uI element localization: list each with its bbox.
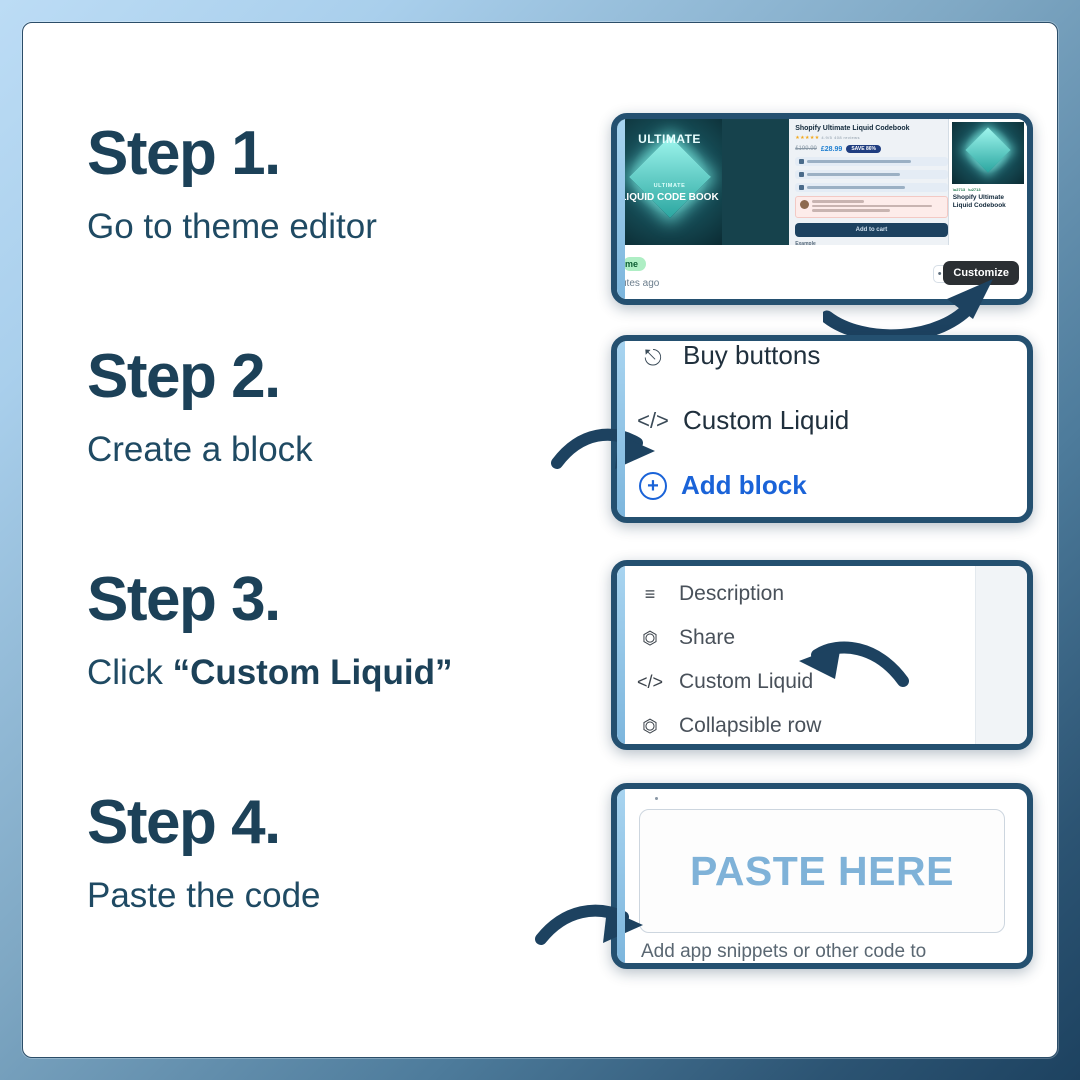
review-count: 408 reviews bbox=[834, 135, 860, 140]
price-current: £28.99 bbox=[821, 146, 842, 153]
book-cover-thumbnail: ULTIMATE ULTIMATE LIQUID CODE BOOK bbox=[617, 119, 722, 245]
block-row-label: Buy buttons bbox=[683, 340, 820, 371]
arrow-to-custom-liquid bbox=[791, 635, 909, 697]
bullet-line bbox=[807, 186, 905, 189]
poster-canvas: Step 1. Go to theme editor Step 2. Creat… bbox=[0, 0, 1080, 1080]
step-2-subtitle-text: Create a block bbox=[87, 430, 313, 469]
bullet-line bbox=[807, 160, 911, 163]
step-4-subtitle: Paste the code bbox=[87, 876, 321, 916]
avatar bbox=[800, 200, 809, 209]
white-panel: Step 1. Go to theme editor Step 2. Creat… bbox=[22, 22, 1058, 1058]
review-callout bbox=[795, 196, 948, 218]
star-glyphs: ★★★★★ bbox=[795, 135, 819, 141]
check-icon bbox=[799, 159, 804, 164]
collapse-frame-icon: ⏣ bbox=[637, 716, 663, 737]
cursor-click-icon: ⎋ bbox=[639, 345, 667, 371]
feature-bullet bbox=[795, 183, 948, 192]
step-1-title: Step 1. bbox=[87, 123, 377, 185]
step-2-title: Step 2. bbox=[87, 346, 313, 408]
code-icon: </> bbox=[637, 672, 663, 693]
mobile-preview: \u2713\u2713 Shopify Ultimate Liquid Cod… bbox=[948, 119, 1027, 245]
chevron-down-icon[interactable]: ⌄ bbox=[621, 294, 629, 305]
step-3-subtitle-text: Click bbox=[87, 653, 173, 692]
picker-row-label: Collapsible row bbox=[679, 714, 821, 738]
step-1-text: Step 1. Go to theme editor bbox=[87, 123, 377, 247]
arrow-to-customize bbox=[823, 273, 1013, 341]
rating-note: 4.9/5 bbox=[821, 135, 832, 140]
add-block-button[interactable]: + Add block bbox=[617, 470, 1027, 501]
cover-line-3: LIQUID CODE BOOK bbox=[617, 192, 722, 203]
screenshot-card-paste-area[interactable]: PASTE HERE Add app snippets or other cod… bbox=[611, 783, 1033, 969]
scroll-track[interactable] bbox=[975, 566, 1027, 744]
review-line bbox=[812, 200, 864, 203]
rating-row: ★★★★★ 4.9/5 408 reviews bbox=[795, 135, 948, 141]
current-theme-badge: me bbox=[623, 257, 646, 271]
price-save-badge: SAVE 86% bbox=[846, 145, 881, 153]
product-title: Shopify Ultimate Liquid Codebook bbox=[795, 125, 948, 132]
share-frame-icon: ⏣ bbox=[637, 628, 663, 649]
step-3-text: Step 3. Click “Custom Liquid” bbox=[87, 569, 453, 693]
picker-row-label: Share bbox=[679, 626, 735, 650]
block-row-label: Custom Liquid bbox=[683, 405, 849, 436]
mobile-tags: \u2713\u2713 bbox=[953, 187, 1023, 192]
arrow-to-paste-area bbox=[535, 891, 655, 953]
mobile-product-info: \u2713\u2713 Shopify Ultimate Liquid Cod… bbox=[949, 187, 1027, 210]
step-4-title: Step 4. bbox=[87, 792, 321, 854]
price-original: £199.99 bbox=[795, 146, 817, 152]
feature-bullet bbox=[795, 157, 948, 166]
product-detail-block: Shopify Ultimate Liquid Codebook ★★★★★ 4… bbox=[795, 125, 948, 247]
add-block-label: Add block bbox=[681, 470, 807, 501]
step-1-subtitle: Go to theme editor bbox=[87, 207, 377, 247]
step-4-text: Step 4. Paste the code bbox=[87, 792, 321, 916]
step-3-subtitle-emphasis: “Custom Liquid” bbox=[173, 653, 453, 692]
bullet-line bbox=[807, 173, 899, 176]
picker-row-description[interactable]: ≡ Description bbox=[617, 572, 975, 616]
cover-line-2: ULTIMATE bbox=[617, 183, 722, 189]
add-to-cart-button[interactable]: Add to cart bbox=[795, 223, 948, 237]
price-row: £199.99 £28.99 SAVE 86% bbox=[795, 145, 948, 153]
step-1-subtitle-text: Go to theme editor bbox=[87, 207, 377, 246]
tag-label: \u2713 bbox=[968, 187, 980, 192]
review-line bbox=[812, 205, 932, 208]
paste-here-placeholder: PASTE HERE bbox=[690, 848, 954, 895]
step-2-subtitle: Create a block bbox=[87, 430, 313, 470]
picker-row-label: Description bbox=[679, 582, 784, 606]
code-field-hint: Add app snippets or other code to bbox=[641, 941, 1015, 963]
diamond-shape bbox=[628, 136, 710, 218]
field-dot-marker bbox=[655, 797, 658, 800]
diamond-shape bbox=[965, 127, 1010, 172]
block-row-custom-liquid[interactable]: </> Custom Liquid bbox=[617, 405, 1027, 436]
check-icon bbox=[799, 185, 804, 190]
picker-row-collapsible-row[interactable]: ⏣ Collapsible row bbox=[617, 704, 975, 748]
step-3-subtitle: Click “Custom Liquid” bbox=[87, 653, 453, 693]
block-row-buy-buttons[interactable]: ⎋ Buy buttons bbox=[617, 335, 1027, 371]
step-2-text: Step 2. Create a block bbox=[87, 346, 313, 470]
screenshot-card-block-list[interactable]: ⎋ Buy buttons </> Custom Liquid + Add bl… bbox=[611, 335, 1033, 523]
review-line bbox=[812, 209, 890, 212]
mobile-product-image bbox=[952, 122, 1024, 184]
step-4-subtitle-text: Paste the code bbox=[87, 876, 321, 915]
last-saved-text: utes ago bbox=[621, 278, 659, 289]
check-icon bbox=[799, 172, 804, 177]
theme-preview-strip: ULTIMATE ULTIMATE LIQUID CODE BOOK Shopi… bbox=[617, 119, 1027, 245]
arrow-to-add-block bbox=[551, 421, 661, 483]
tag-label: \u2713 bbox=[953, 187, 965, 192]
desktop-preview: Shopify Ultimate Liquid Codebook ★★★★★ 4… bbox=[722, 119, 1027, 245]
code-textarea[interactable]: PASTE HERE bbox=[639, 809, 1005, 933]
step-3-title: Step 3. bbox=[87, 569, 453, 631]
review-text-lines bbox=[812, 200, 943, 214]
mobile-product-title: Shopify Ultimate Liquid Codebook bbox=[953, 194, 1023, 210]
feature-bullet bbox=[795, 170, 948, 179]
cover-line-1: ULTIMATE bbox=[617, 132, 722, 146]
text-lines-icon: ≡ bbox=[637, 584, 663, 605]
